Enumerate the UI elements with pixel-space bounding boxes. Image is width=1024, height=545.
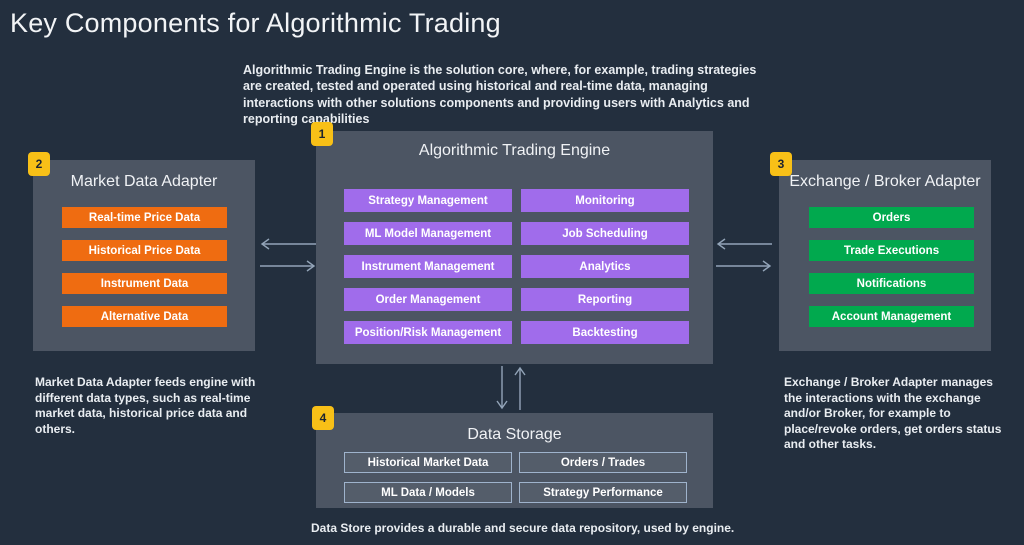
intro-paragraph: Algorithmic Trading Engine is the soluti… <box>243 62 771 128</box>
panel-exchange-broker-adapter: Exchange / Broker Adapter Orders Trade E… <box>779 160 991 351</box>
diagram-canvas: Key Components for Algorithmic Trading A… <box>0 0 1024 545</box>
tile-ml-model-management[interactable]: ML Model Management <box>344 222 512 245</box>
panel-market-data-adapter: Market Data Adapter Real-time Price Data… <box>33 160 255 351</box>
tile-order-management[interactable]: Order Management <box>344 288 512 311</box>
arrow-right-icon <box>716 261 770 271</box>
arrow-right-icon <box>260 261 314 271</box>
tile-historical-price-data[interactable]: Historical Price Data <box>62 240 227 261</box>
badge-data-storage: 4 <box>312 406 334 430</box>
connector-market-to-engine <box>258 234 318 278</box>
panel-algorithmic-trading-engine: Algorithmic Trading Engine Strategy Mana… <box>316 131 713 364</box>
tile-trade-executions[interactable]: Trade Executions <box>809 240 974 261</box>
arrow-up-icon <box>515 368 525 410</box>
tile-orders-trades[interactable]: Orders / Trades <box>519 452 687 473</box>
connector-engine-to-storage <box>490 364 534 412</box>
panel-exchange-broker-adapter-title: Exchange / Broker Adapter <box>779 173 991 191</box>
tile-historical-market-data[interactable]: Historical Market Data <box>344 452 512 473</box>
panel-market-data-adapter-title: Market Data Adapter <box>33 173 255 191</box>
tile-reporting[interactable]: Reporting <box>521 288 689 311</box>
tile-position-risk-management[interactable]: Position/Risk Management <box>344 321 512 344</box>
caption-data-storage: Data Store provides a durable and secure… <box>311 521 741 537</box>
badge-market-data-adapter: 2 <box>28 152 50 176</box>
tile-analytics[interactable]: Analytics <box>521 255 689 278</box>
connector-engine-to-exchange <box>714 234 774 278</box>
tile-strategy-performance[interactable]: Strategy Performance <box>519 482 687 503</box>
badge-algorithmic-trading-engine: 1 <box>311 122 333 146</box>
tile-ml-data-models[interactable]: ML Data / Models <box>344 482 512 503</box>
tile-strategy-management[interactable]: Strategy Management <box>344 189 512 212</box>
tile-instrument-data[interactable]: Instrument Data <box>62 273 227 294</box>
panel-data-storage: Data Storage Historical Market Data ML D… <box>316 413 713 508</box>
tile-notifications[interactable]: Notifications <box>809 273 974 294</box>
panel-data-storage-title: Data Storage <box>316 426 713 444</box>
tile-monitoring[interactable]: Monitoring <box>521 189 689 212</box>
arrow-left-icon <box>262 239 316 249</box>
tile-account-management[interactable]: Account Management <box>809 306 974 327</box>
arrow-left-icon <box>718 239 772 249</box>
tile-orders[interactable]: Orders <box>809 207 974 228</box>
arrow-down-icon <box>497 366 507 408</box>
badge-exchange-broker-adapter: 3 <box>770 152 792 176</box>
caption-market-data-adapter: Market Data Adapter feeds engine with di… <box>35 375 280 437</box>
caption-exchange-broker-adapter: Exchange / Broker Adapter manages the in… <box>784 375 1009 453</box>
page-title: Key Components for Algorithmic Trading <box>10 8 501 39</box>
tile-job-scheduling[interactable]: Job Scheduling <box>521 222 689 245</box>
tile-instrument-management[interactable]: Instrument Management <box>344 255 512 278</box>
tile-real-time-price-data[interactable]: Real-time Price Data <box>62 207 227 228</box>
tile-backtesting[interactable]: Backtesting <box>521 321 689 344</box>
tile-alternative-data[interactable]: Alternative Data <box>62 306 227 327</box>
panel-algorithmic-trading-engine-title: Algorithmic Trading Engine <box>316 142 713 160</box>
